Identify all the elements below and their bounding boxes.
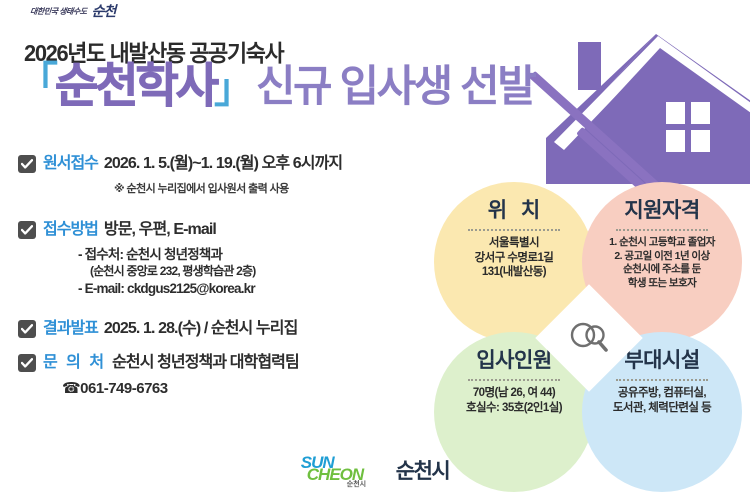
checklist-item-contact: 문 의 처 순천시 청년정책과 대학협력팀: [18, 351, 438, 375]
divider: [616, 379, 708, 381]
checklist-value: 순천시 청년정책과 대학협력팀: [112, 351, 299, 375]
checklist-value: 2025. 1. 28.(수) / 순천시 누리집: [104, 317, 298, 341]
contact-phone: ☎061-749-6763: [62, 379, 438, 399]
info-line: 공유주방, 컴퓨터실,: [613, 386, 711, 401]
footer-logo: SUN CHEON 순천시 순천시: [301, 452, 449, 488]
city-name-mark: 순천: [92, 1, 116, 21]
checklist-value: 2026. 1. 5.(월)~1. 19.(월) 오후 6시까지: [104, 152, 342, 176]
bracket-close: 」: [214, 71, 251, 107]
info-circle-group: 위 치 서울특별시 강서구 수명로1길 131(내발산동) 지원자격 1. 순천…: [432, 182, 750, 494]
title-sub: 신규 입사생 선발: [256, 66, 534, 109]
info-circle-title: 부대시설: [624, 350, 699, 372]
sun-cheon-logo-icon: SUN CHEON 순천시: [301, 452, 387, 488]
bracket-open: 「: [18, 64, 55, 100]
checklist-label: 결과발표: [43, 317, 98, 341]
footer-city-name: 순천시: [396, 455, 449, 485]
divider: [468, 229, 560, 231]
info-line: 70명(남 26, 여 44): [466, 386, 562, 401]
logo-kr-text: 순천시: [347, 479, 366, 489]
info-circle-body: 1. 순천시 고등학교 졸업자 2. 공고일 이전 1년 이상 순천시에 주소를…: [609, 236, 715, 290]
info-line: 강서구 수명로1길: [475, 251, 554, 266]
title-main: 순천학사: [55, 62, 216, 109]
info-circle-title: 입사인원: [476, 350, 551, 372]
city-slogan-mark: 대한민국 생태수도 순천: [30, 0, 115, 22]
info-circle-body: 70명(남 26, 여 44) 호실수: 35호(2인1실): [466, 386, 562, 415]
city-slogan-text: 대한민국 생태수도: [29, 6, 87, 17]
checklist-item-result: 결과발표 2025. 1. 28.(수) / 순천시 누리집: [18, 317, 438, 341]
info-circle-body: 서울특별시 강서구 수명로1길 131(내발산동): [475, 236, 554, 280]
info-line: 학생 또는 보호자: [609, 277, 715, 291]
check-icon: [18, 155, 36, 173]
page-title: 「 순천학사 」 신규 입사생 선발: [18, 62, 534, 109]
info-circle-title: 지원자격: [624, 200, 699, 222]
checklist-label: 문 의 처: [43, 351, 106, 375]
checklist-subline-email: - E-mail: ckdgus2125@korea.kr: [78, 280, 438, 297]
check-icon: [18, 320, 36, 338]
info-line: 131(내발산동): [475, 265, 554, 280]
info-line: 도서관, 체력단련실 등: [613, 401, 711, 416]
info-line: 서울특별시: [475, 236, 554, 251]
checklist-note: ※ 순천시 누리집에서 입사원서 출력 사용: [114, 180, 438, 196]
check-icon: [18, 354, 36, 372]
checklist: 원서접수 2026. 1. 5.(월)~1. 19.(월) 오후 6시까지 ※ …: [18, 152, 438, 399]
checklist-item-method: 접수방법 방문, 우편, E-mail: [18, 218, 438, 242]
info-line: 순천시에 주소를 둔: [609, 263, 715, 277]
info-line: 1. 순천시 고등학교 졸업자: [609, 236, 715, 250]
checklist-item-application: 원서접수 2026. 1. 5.(월)~1. 19.(월) 오후 6시까지: [18, 152, 438, 176]
checklist-subline-office: - 접수처: 순천시 청년정책과: [78, 246, 438, 263]
info-line: 호실수: 35호(2인1실): [466, 401, 562, 416]
info-circle-title: 위 치: [484, 200, 544, 222]
divider: [616, 229, 708, 231]
checklist-value: 방문, 우편, E-mail: [104, 218, 216, 242]
info-line: 2. 공고일 이전 1년 이상: [609, 250, 715, 264]
info-circle-body: 공유주방, 컴퓨터실, 도서관, 체력단련실 등: [613, 386, 711, 415]
poster-root: 대한민국 생태수도 순천 2026년도 내발산동 공공기숙사 「 순천학사 」 …: [0, 0, 750, 494]
check-icon: [18, 221, 36, 239]
checklist-subline-address: (순천시 중앙로 232, 평생학습관 2층): [90, 263, 438, 280]
checklist-label: 원서접수: [43, 152, 98, 176]
checklist-label: 접수방법: [43, 218, 98, 242]
divider: [468, 379, 560, 381]
